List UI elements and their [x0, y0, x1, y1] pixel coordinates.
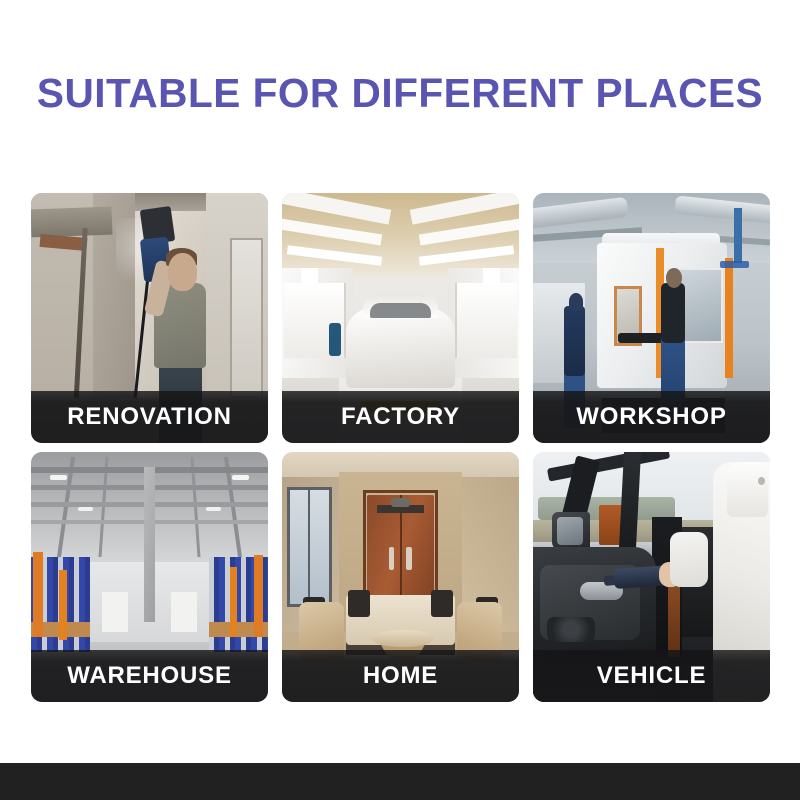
home-caption-bar: HOME	[282, 650, 519, 702]
place-tile-workshop[interactable]: WORKSHOP	[533, 193, 770, 443]
place-tile-home[interactable]: HOME	[282, 452, 519, 702]
vehicle-caption-bar: VEHICLE	[533, 650, 770, 702]
place-tile-warehouse[interactable]: WAREHOUSE	[31, 452, 268, 702]
places-grid: RENOVATION FACTOR	[31, 193, 769, 702]
footer-band	[0, 763, 800, 800]
page-title: SUITABLE FOR DIFFERENT PLACES	[4, 70, 796, 117]
place-label-workshop: WORKSHOP	[576, 405, 726, 429]
warehouse-caption-bar: WAREHOUSE	[31, 650, 268, 702]
place-label-home: HOME	[363, 664, 438, 688]
factory-caption-bar: FACTORY	[282, 391, 519, 443]
place-label-vehicle: VEHICLE	[597, 664, 707, 688]
place-label-renovation: RENOVATION	[67, 405, 231, 429]
workshop-caption-bar: WORKSHOP	[533, 391, 770, 443]
place-tile-vehicle[interactable]: VEHICLE	[533, 452, 770, 702]
renovation-caption-bar: RENOVATION	[31, 391, 268, 443]
place-label-warehouse: WAREHOUSE	[67, 664, 232, 688]
place-tile-renovation[interactable]: RENOVATION	[31, 193, 268, 443]
place-label-factory: FACTORY	[341, 405, 460, 429]
place-tile-factory[interactable]: FACTORY	[282, 193, 519, 443]
